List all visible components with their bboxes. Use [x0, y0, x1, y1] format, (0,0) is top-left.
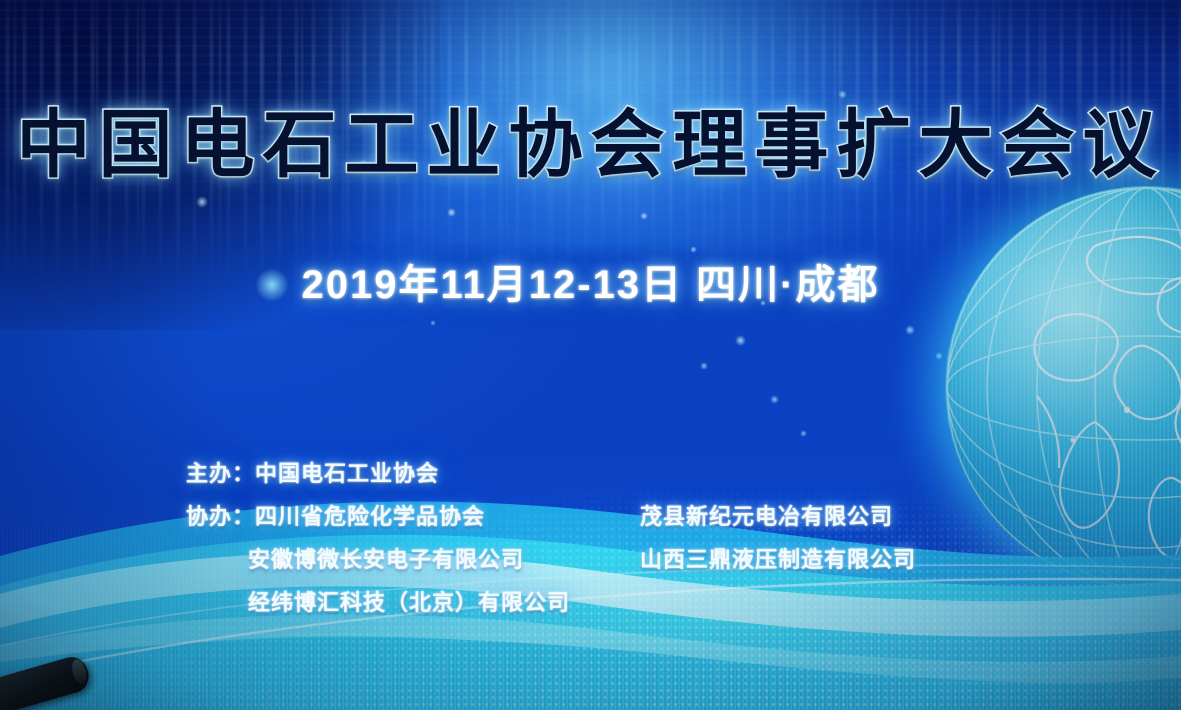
sponsor-right-line: 山西三鼎液压制造有限公司	[640, 538, 916, 581]
page-title: 中国电石工业协会理事扩大会议	[0, 108, 1181, 182]
sponsor-row: 安徽博微长安电子有限公司 山西三鼎液压制造有限公司	[186, 538, 1066, 581]
sponsor-cohost-line: 经纬博汇科技（北京）有限公司	[248, 581, 570, 624]
conference-backdrop-screen: 中国电石工业协会理事扩大会议 2019年11月12-13日 四川·成都 主办：中…	[0, 0, 1181, 710]
sponsor-block: 主办：中国电石工业协会 协办：四川省危险化学品协会 茂县新纪元电冶有限公司 安徽…	[186, 452, 1066, 624]
sponsor-cohost-line: 协办：四川省危险化学品协会	[186, 495, 485, 538]
sponsor-row: 协办：四川省危险化学品协会 茂县新纪元电冶有限公司	[186, 495, 1066, 538]
sponsor-host-line: 主办：中国电石工业协会	[186, 452, 439, 495]
sponsor-row: 经纬博汇科技（北京）有限公司	[186, 581, 1066, 624]
sponsor-row: 主办：中国电石工业协会	[186, 452, 1066, 495]
event-date-location: 2019年11月12-13日 四川·成都	[0, 252, 1181, 310]
sponsor-right-line: 茂县新纪元电冶有限公司	[640, 495, 893, 538]
sponsor-cohost-line: 安徽博微长安电子有限公司	[248, 538, 524, 581]
